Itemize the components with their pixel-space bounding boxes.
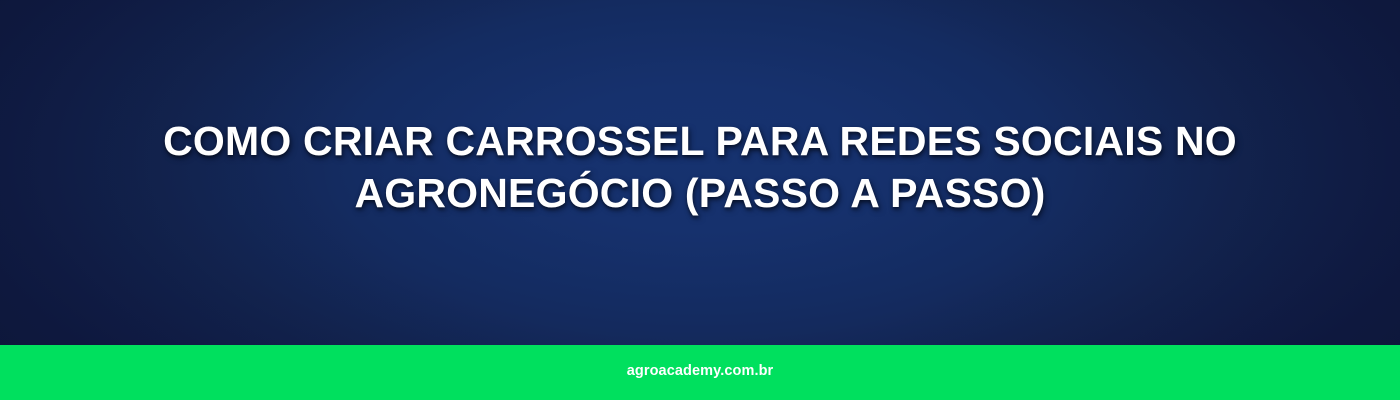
footer-bar: agroacademy.com.br xyxy=(0,345,1400,400)
title-container: COMO CRIAR CARROSSEL PARA REDES SOCIAIS … xyxy=(0,0,1400,345)
page-title: COMO CRIAR CARROSSEL PARA REDES SOCIAIS … xyxy=(140,115,1260,219)
site-url-label: agroacademy.com.br xyxy=(627,364,774,379)
article-header-banner: COMO CRIAR CARROSSEL PARA REDES SOCIAIS … xyxy=(0,0,1400,400)
page-title-line-2: AGRONEGÓCIO (PASSO A PASSO) xyxy=(140,167,1260,219)
page-title-line-1: COMO CRIAR CARROSSEL PARA REDES SOCIAIS … xyxy=(140,115,1260,167)
